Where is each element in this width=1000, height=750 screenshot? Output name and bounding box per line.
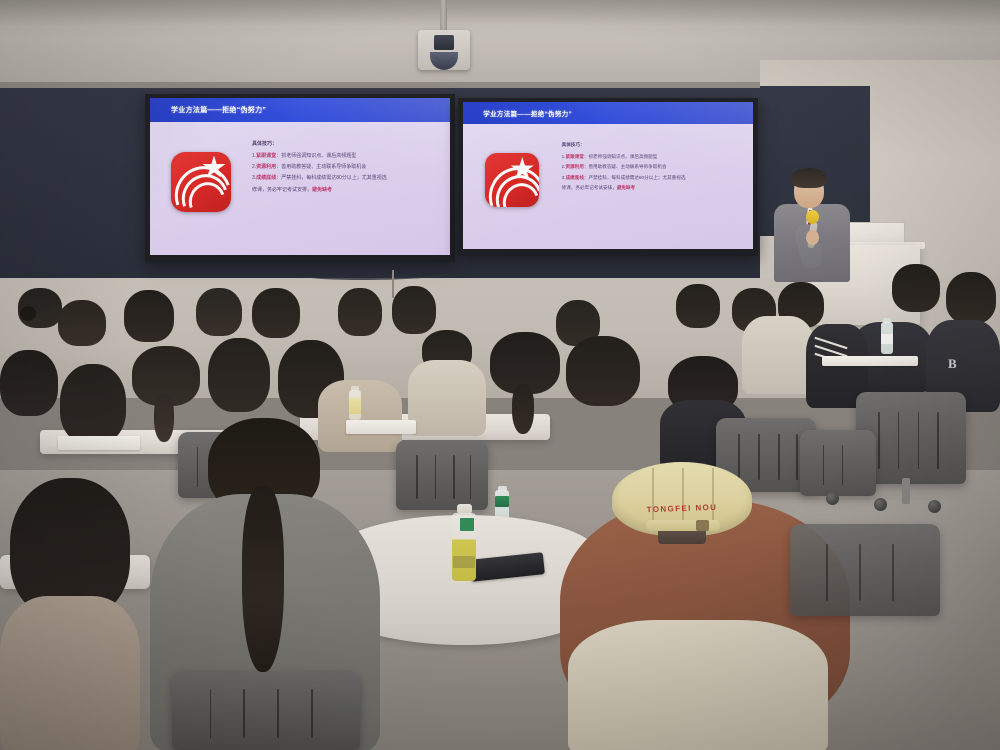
dark-wall-panel-left bbox=[0, 88, 146, 284]
glasses-icon bbox=[795, 184, 823, 190]
office-chair[interactable] bbox=[396, 440, 488, 510]
projector-dome-icon bbox=[430, 52, 458, 70]
open-notebook bbox=[58, 436, 140, 450]
slide-bullet-3-cont-left: 修课，务必牢记考试安排，避免缺考 bbox=[252, 186, 435, 195]
presentation-screen-right[interactable]: 学业方法篇——拒绝“伪努力” 具体技巧： 1.紧跟课堂：抓老师强调知识点、课后高… bbox=[458, 98, 758, 256]
ceiling-shadow bbox=[0, 0, 1000, 26]
office-chair[interactable] bbox=[800, 430, 876, 496]
audience-member bbox=[252, 288, 300, 340]
logo-area-right bbox=[463, 124, 562, 207]
microphone-head bbox=[806, 210, 819, 224]
chair-wheel bbox=[874, 498, 887, 511]
slide-bullet-2-right: 2.资源利用：善用助教答疑、主动联系导师争取机会 bbox=[562, 163, 739, 171]
audience-member-hoodie bbox=[408, 330, 486, 430]
presenter-hand bbox=[806, 230, 819, 245]
logo-area-left bbox=[150, 122, 252, 212]
audience-member bbox=[338, 288, 382, 338]
office-chair[interactable] bbox=[172, 672, 360, 750]
audience-member bbox=[566, 336, 640, 440]
slide-right: 学业方法篇——拒绝“伪努力” 具体技巧： 1.紧跟课堂：抓老师强调知识点、课后高… bbox=[463, 102, 753, 249]
slide-bullet-1-left: 1.紧跟课堂：抓老师强调知识点、课后高频题型 bbox=[252, 152, 435, 161]
baseball-cap: TONGFEI NOU bbox=[612, 462, 752, 548]
juice-bottle bbox=[450, 504, 478, 580]
slide-title-right: 学业方法篇——拒绝“伪努力” bbox=[483, 108, 572, 118]
audience-member bbox=[196, 288, 242, 340]
chaoxing-star-logo bbox=[171, 152, 231, 212]
slide-bullet-3-right: 3.成绩底线：严禁挂科，每科成绩需达80分以上；尤其重视选 bbox=[562, 174, 739, 182]
slide-title-bar-right: 学业方法篇——拒绝“伪努力” bbox=[463, 102, 753, 124]
slide-bullet-2-left: 2.资源利用：善用助教答疑、主动联系导师争取机会 bbox=[252, 163, 435, 172]
audience-member bbox=[742, 306, 814, 392]
projector-lens-icon bbox=[434, 35, 454, 50]
slide-bullet-3-cont-right: 修课，务必牢记考试安排，避免缺考 bbox=[562, 184, 739, 192]
slide-left: 学业方法篇——拒绝“伪努力” 具体技巧： 1.紧跟课堂：抓老师强调知识点、课后高… bbox=[150, 98, 450, 255]
cap-buckle bbox=[696, 520, 709, 531]
lecture-hall-photo: 学业方法篇——拒绝“伪努力” 具体技巧： 1.紧跟课堂：抓老师强调知识点、课后高… bbox=[0, 0, 1000, 750]
audience-member-foreground bbox=[0, 478, 140, 750]
slide-text-left: 具体技巧： 1.紧跟课堂：抓老师强调知识点、课后高频题型 2.资源利用：善用助教… bbox=[252, 122, 450, 197]
ceiling-projector-icon bbox=[418, 30, 470, 70]
slide-heading-left: 具体技巧： bbox=[252, 140, 435, 149]
audience-member bbox=[0, 350, 58, 420]
chair-wheel bbox=[928, 500, 941, 513]
slide-bullet-1-right: 1.紧跟课堂：抓老师强调知识点、课后高频题型 bbox=[562, 153, 739, 161]
slide-heading-right: 具体技巧： bbox=[562, 141, 739, 149]
office-chair[interactable] bbox=[790, 524, 940, 616]
chair-post bbox=[902, 478, 910, 504]
audience-member bbox=[490, 332, 560, 436]
presentation-screen-left[interactable]: 学业方法篇——拒绝“伪努力” 具体技巧： 1.紧跟课堂：抓老师强调知识点、课后高… bbox=[145, 94, 455, 262]
slide-title-bar-left: 学业方法篇——拒绝“伪努力” bbox=[150, 98, 450, 122]
audience-member bbox=[676, 284, 720, 330]
open-notebook bbox=[822, 356, 918, 366]
water-bottle bbox=[880, 318, 894, 354]
audience-member bbox=[208, 338, 270, 418]
slide-bullet-3-left: 3.成绩底线：严禁挂科，每科成绩需达80分以上；尤其重视选 bbox=[252, 174, 435, 183]
audience-member bbox=[18, 288, 62, 334]
chaoxing-star-logo bbox=[485, 153, 539, 207]
slide-body-left: 具体技巧： 1.紧跟课堂：抓老师强调知识点、课后高频题型 2.资源利用：善用助教… bbox=[150, 122, 450, 255]
audience-member bbox=[392, 286, 436, 336]
slide-text-right: 具体技巧： 1.紧跟课堂：抓老师强调知识点、课后高频题型 2.资源利用：善用助教… bbox=[562, 124, 753, 195]
slide-title-left: 学业方法篇——拒绝“伪努力” bbox=[171, 105, 266, 115]
audience-member bbox=[124, 290, 174, 348]
presenter bbox=[770, 168, 854, 280]
tea-bottle bbox=[348, 386, 362, 420]
ceiling-mount-rod bbox=[440, 0, 447, 34]
slide-body-right: 具体技巧： 1.紧跟课堂：抓老师强调知识点、课后高频题型 2.资源利用：善用助教… bbox=[463, 124, 753, 249]
audience-member bbox=[58, 300, 106, 352]
